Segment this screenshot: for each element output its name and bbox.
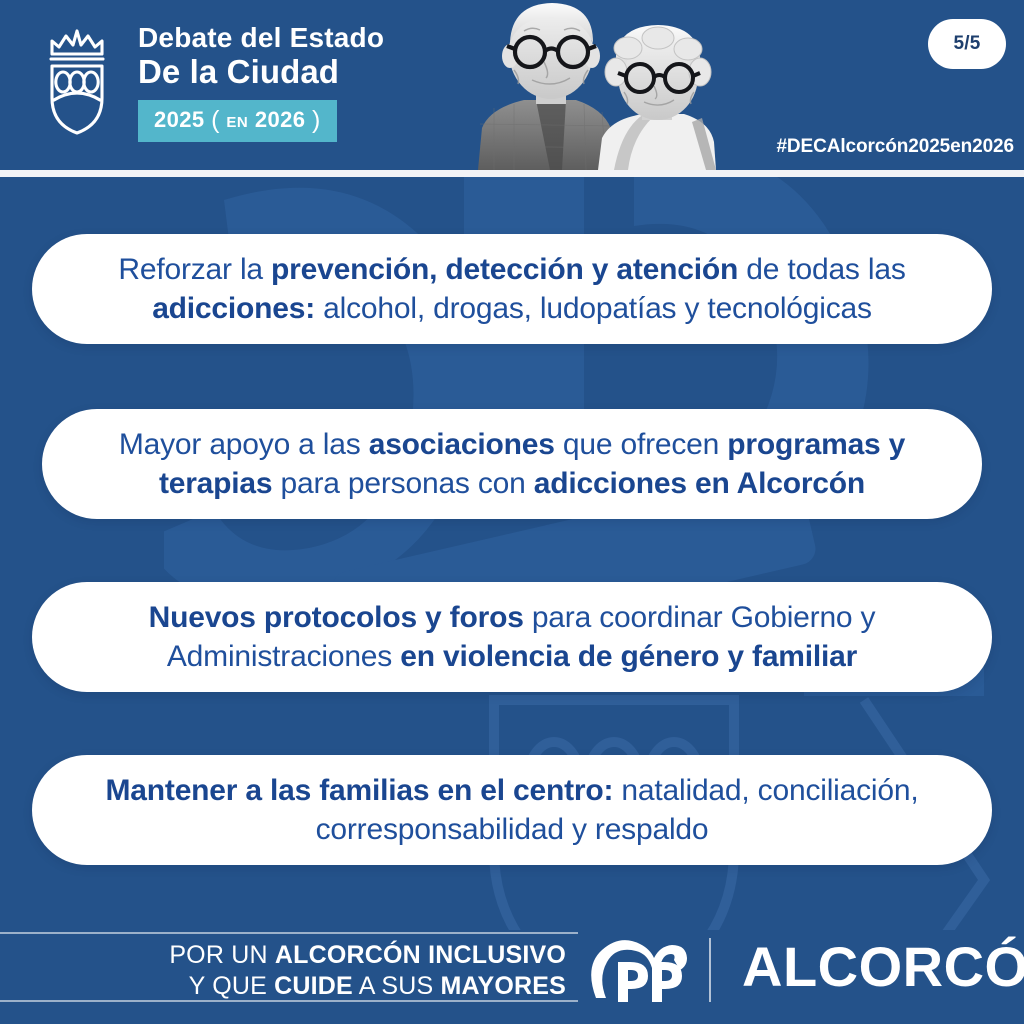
- year-badge-paren-open: (: [211, 106, 220, 134]
- year-badge-en-label: EN: [226, 114, 248, 131]
- footer-bar: POR UN ALCORCÓN INCLUSIVO Y QUE CUIDE A …: [0, 914, 1024, 1024]
- footer-slogan-line2: Y QUE CUIDE A SUS MAYORES: [0, 971, 566, 1002]
- elderly-couple-illustration: [466, 0, 716, 170]
- proposal-card-text: Mantener a las familias en el centro: na…: [78, 771, 946, 849]
- campaign-hashtag: #DECAlcorcón2025en2026: [776, 136, 1014, 158]
- header-divider: [0, 170, 1024, 177]
- footer-rule-top: [0, 932, 578, 934]
- header-title-line2: De la Ciudad: [138, 54, 384, 91]
- card-familias: Mantener a las familias en el centro: na…: [32, 755, 992, 865]
- elderly-couple-graphic: [466, 0, 716, 170]
- year-badge-year2: 2026: [255, 107, 306, 132]
- header-titles: Debate del Estado De la Ciudad 2025 ( EN…: [138, 22, 384, 142]
- pp-logo-icon: [588, 936, 688, 1004]
- year-badge: 2025 ( EN 2026 ): [138, 100, 337, 142]
- footer-slogan: POR UN ALCORCÓN INCLUSIVO Y QUE CUIDE A …: [0, 940, 578, 1001]
- header-bar: Debate del Estado De la Ciudad 2025 ( EN…: [0, 0, 1024, 170]
- header-title-line1: Debate del Estado: [138, 22, 384, 53]
- year-badge-year: 2025: [154, 107, 205, 132]
- footer-city-name: ALCORCÓN: [742, 939, 1024, 995]
- card-asociaciones: Mayor apoyo a las asociaciones que ofrec…: [42, 409, 982, 519]
- poster-canvas: Debate del Estado De la Ciudad 2025 ( EN…: [0, 0, 1024, 1024]
- year-badge-paren-close: ): [312, 106, 321, 134]
- card-protocolos: Nuevos protocolos y foros para coordinar…: [32, 582, 992, 692]
- page-indicator-badge: 5/5: [928, 19, 1006, 69]
- proposal-card-text: Reforzar la prevención, detección y aten…: [78, 250, 946, 328]
- proposal-card-text: Mayor apoyo a las asociaciones que ofrec…: [88, 425, 936, 503]
- proposal-card-text: Nuevos protocolos y foros para coordinar…: [78, 598, 946, 676]
- footer-separator: [709, 938, 711, 1002]
- alcorcon-coat-of-arms-icon: [44, 24, 110, 136]
- card-adicciones: Reforzar la prevención, detección y aten…: [32, 234, 992, 344]
- footer-slogan-line1: POR UN ALCORCÓN INCLUSIVO: [0, 940, 566, 971]
